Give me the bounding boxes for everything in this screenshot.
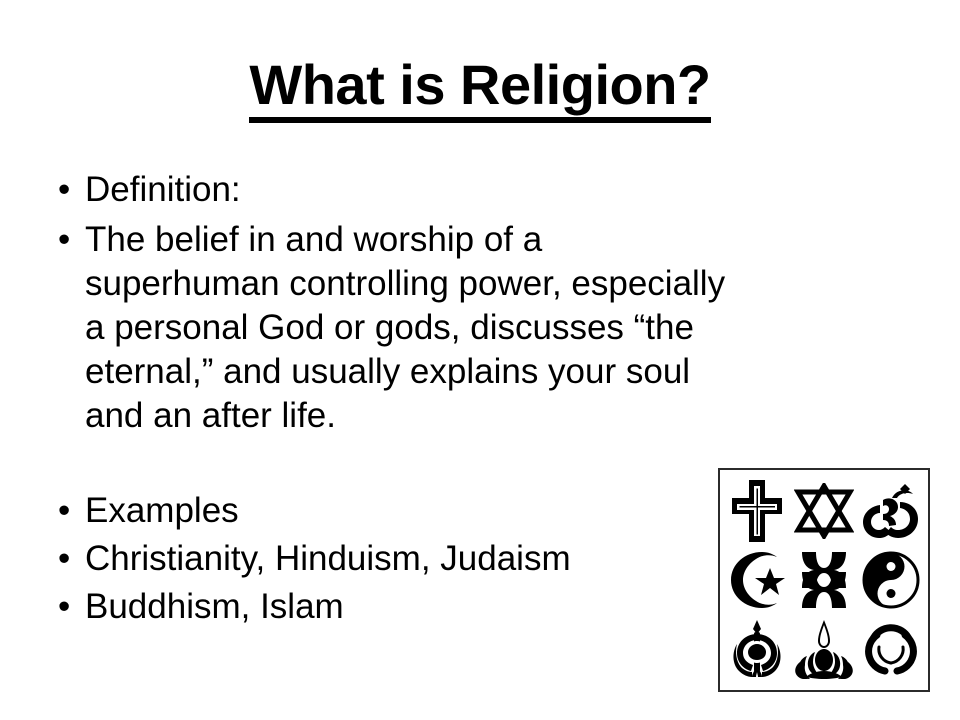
cross-pattee-icon bbox=[796, 551, 852, 609]
lotus-flame-icon bbox=[794, 619, 854, 679]
bullet-text-definition-label: Definition: bbox=[85, 168, 748, 212]
bullet-item-examples-label: • Examples bbox=[48, 489, 748, 533]
latin-cross-icon bbox=[730, 480, 784, 542]
bullet-item-definition-body: • The belief in and worship of a superhu… bbox=[48, 218, 748, 438]
triple-crescent-icon bbox=[861, 619, 921, 679]
bullet-marker-icon: • bbox=[48, 537, 85, 581]
symbol-cell-islam bbox=[724, 545, 791, 614]
slide-body: • Definition: • The belief in and worshi… bbox=[48, 168, 748, 629]
slide-title-text: What is Religion? bbox=[249, 56, 710, 123]
star-of-david-icon bbox=[794, 483, 854, 539]
religious-symbols-figure bbox=[718, 468, 930, 692]
bullet-text-definition-body: The belief in and worship of a superhuma… bbox=[85, 218, 745, 438]
bullet-marker-icon: • bbox=[48, 489, 85, 533]
blank-line-spacer bbox=[48, 439, 748, 489]
yin-yang-icon bbox=[862, 551, 920, 609]
bullet-text-examples-line-1: Christianity, Hinduism, Judaism bbox=[85, 537, 748, 581]
presentation-slide: What is Religion? • Definition: • The be… bbox=[0, 0, 960, 720]
bullet-item-examples-line-2: • Buddhism, Islam bbox=[48, 585, 748, 629]
symbol-cell-christianity bbox=[724, 476, 791, 545]
bullet-text-examples-label: Examples bbox=[85, 489, 748, 533]
bullet-item-examples-line-1: • Christianity, Hinduism, Judaism bbox=[48, 537, 748, 581]
symbol-cell-taoism bbox=[857, 545, 924, 614]
khanda-icon bbox=[729, 619, 785, 679]
bullet-marker-icon: • bbox=[48, 218, 85, 262]
symbol-cell-judaism bbox=[791, 476, 858, 545]
bullet-text-examples-line-2: Buddhism, Islam bbox=[85, 585, 748, 629]
symbol-cell-cross-pattee bbox=[791, 545, 858, 614]
slide-title: What is Religion? bbox=[0, 56, 960, 123]
symbol-cell-sikhism bbox=[724, 615, 791, 684]
bullet-marker-icon: • bbox=[48, 585, 85, 629]
star-and-crescent-icon bbox=[726, 551, 788, 609]
religious-symbols-grid bbox=[724, 476, 924, 684]
bullet-item-definition-label: • Definition: bbox=[48, 168, 748, 212]
bullet-marker-icon: • bbox=[48, 168, 85, 212]
symbol-cell-hinduism bbox=[857, 476, 924, 545]
symbol-cell-jainism bbox=[791, 615, 858, 684]
om-icon bbox=[861, 482, 921, 540]
symbol-cell-paganism bbox=[857, 615, 924, 684]
